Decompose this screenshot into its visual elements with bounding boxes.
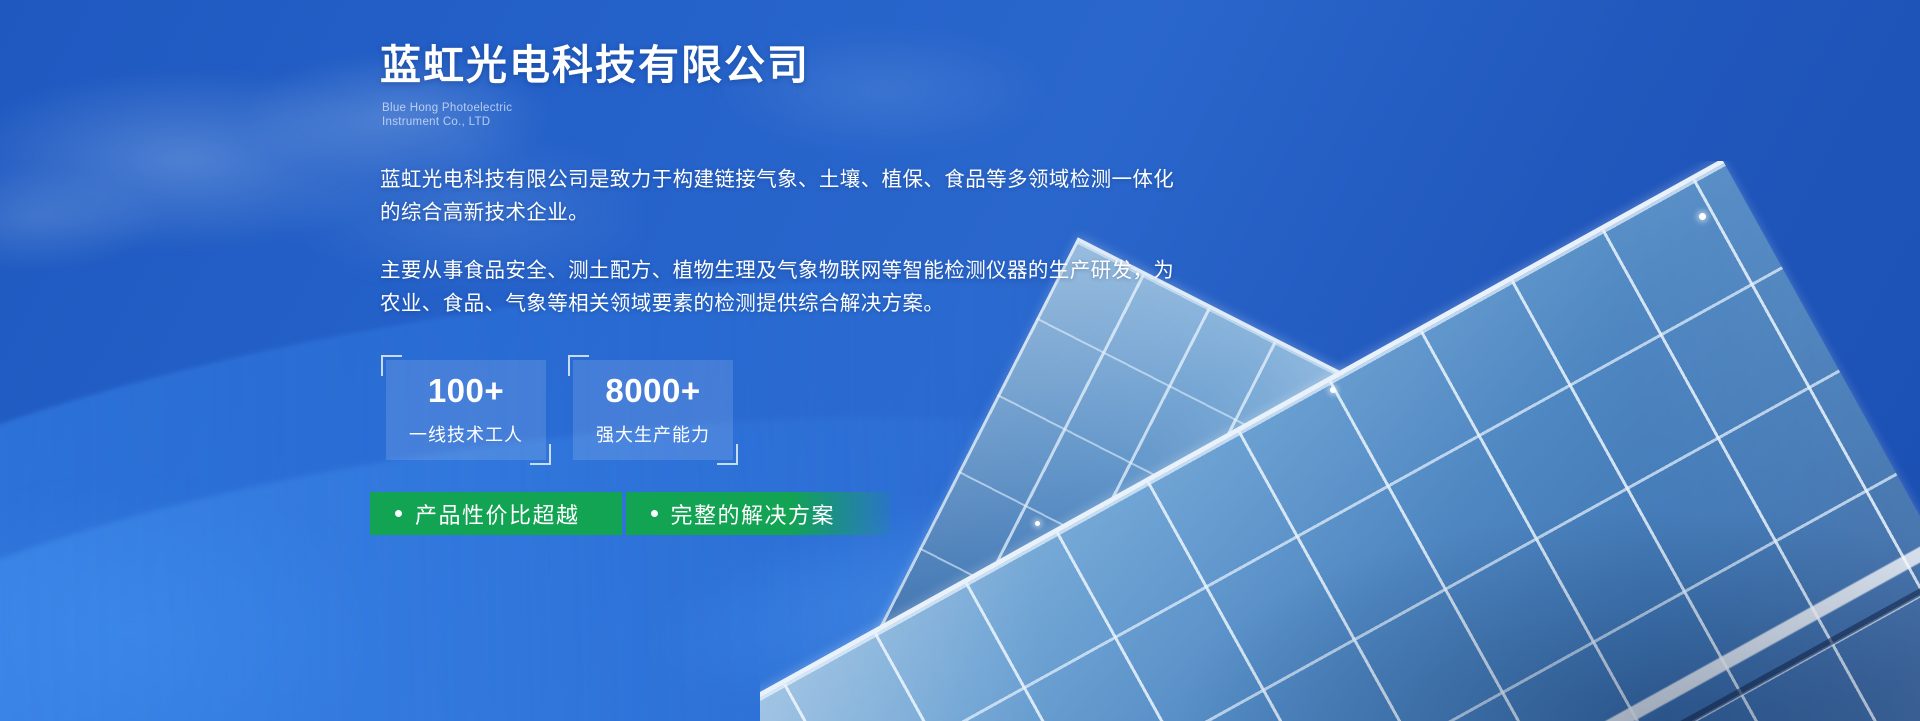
feature-tag-value: 产品性价比超越 (370, 492, 622, 535)
stat-value: 100+ (428, 374, 504, 407)
description-paragraph-2: 主要从事食品安全、测土配方、植物生理及气象物联网等智能检测仪器的生产研发，为农业… (380, 254, 1180, 320)
subtitle-line-1: Blue Hong Photoelectric (382, 101, 1560, 115)
feature-tags-group: 产品性价比超越 完整的解决方案 (370, 492, 891, 535)
stat-card-capacity: 8000+ 强大生产能力 (573, 360, 733, 460)
feature-tag-solution: 完整的解决方案 (626, 492, 892, 535)
page-title: 蓝虹光电科技有限公司 (380, 0, 1560, 91)
bullet-dot-icon (651, 510, 658, 517)
stat-label: 一线技术工人 (409, 421, 523, 447)
glass-specular-dot (1699, 213, 1706, 220)
hero-content: 蓝虹光电科技有限公司 Blue Hong Photoelectric Instr… (380, 0, 1560, 721)
company-hero-banner: 蓝虹光电科技有限公司 Blue Hong Photoelectric Instr… (0, 0, 1920, 721)
description-paragraph-1: 蓝虹光电科技有限公司是致力于构建链接气象、土壤、植保、食品等多领域检测一体化的综… (380, 163, 1180, 229)
stat-card-workers: 100+ 一线技术工人 (386, 360, 546, 460)
company-subtitle-english: Blue Hong Photoelectric Instrument Co., … (382, 101, 1560, 129)
stat-label: 强大生产能力 (596, 421, 710, 447)
statistics-group: 100+ 一线技术工人 8000+ 强大生产能力 (386, 360, 1560, 460)
feature-tag-label: 产品性价比超越 (415, 498, 580, 530)
feature-tag-label: 完整的解决方案 (671, 498, 836, 530)
bullet-dot-icon (395, 510, 402, 517)
subtitle-line-2: Instrument Co., LTD (382, 115, 1560, 129)
stat-value: 8000+ (605, 374, 700, 407)
